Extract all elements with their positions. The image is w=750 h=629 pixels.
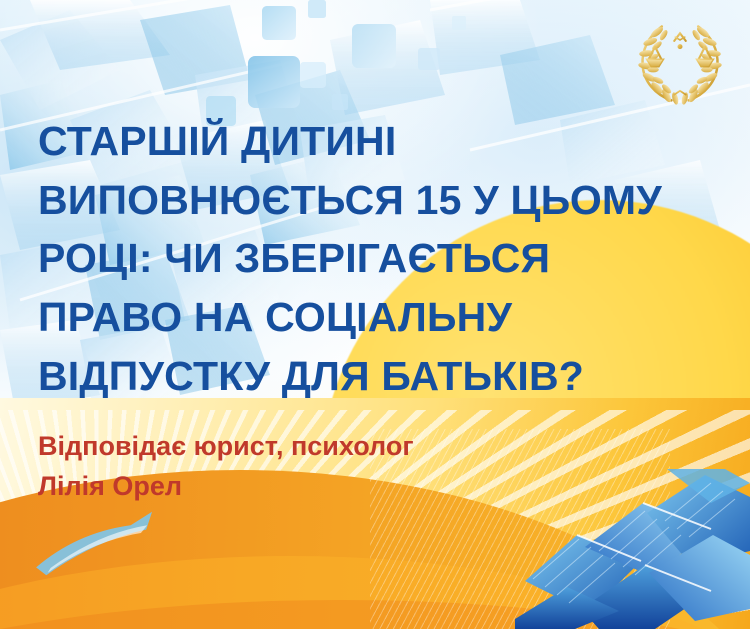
decor-square xyxy=(248,56,300,108)
author-role-line: Відповідає юрист, психолог xyxy=(38,427,722,467)
headline-line-2: ВИПОВНЮЄТЬСЯ 15 У ЦЬОМУ xyxy=(38,171,722,230)
decor-square xyxy=(262,6,296,40)
decor-square xyxy=(300,62,326,88)
headline-line-5: ВІДПУСТКУ ДЛЯ БАТЬКІВ? xyxy=(38,347,722,406)
headline-line-4: ПРАВО НА СОЦІАЛЬНУ xyxy=(38,288,722,347)
author-name-line: Лілія Орел xyxy=(38,467,722,507)
decor-square xyxy=(352,24,396,68)
decor-square xyxy=(332,94,348,110)
headline-line-1: СТАРШІЙ ДИТИНІ xyxy=(38,112,722,171)
info-banner: СТАРШІЙ ДИТИНІ ВИПОВНЮЄТЬСЯ 15 У ЦЬОМУ Р… xyxy=(0,0,750,629)
justice-scales-laurel-wreath-logo xyxy=(632,14,728,110)
decor-square xyxy=(418,48,440,70)
decor-square xyxy=(452,16,466,30)
author-credit: Відповідає юрист, психолог Лілія Орел xyxy=(38,427,722,507)
text-content: СТАРШІЙ ДИТИНІ ВИПОВНЮЄТЬСЯ 15 У ЦЬОМУ Р… xyxy=(38,112,722,507)
page-title: СТАРШІЙ ДИТИНІ ВИПОВНЮЄТЬСЯ 15 У ЦЬОМУ Р… xyxy=(38,112,722,405)
decor-square xyxy=(308,0,326,18)
headline-line-3: РОЦІ: ЧИ ЗБЕРІГАЄТЬСЯ xyxy=(38,229,722,288)
